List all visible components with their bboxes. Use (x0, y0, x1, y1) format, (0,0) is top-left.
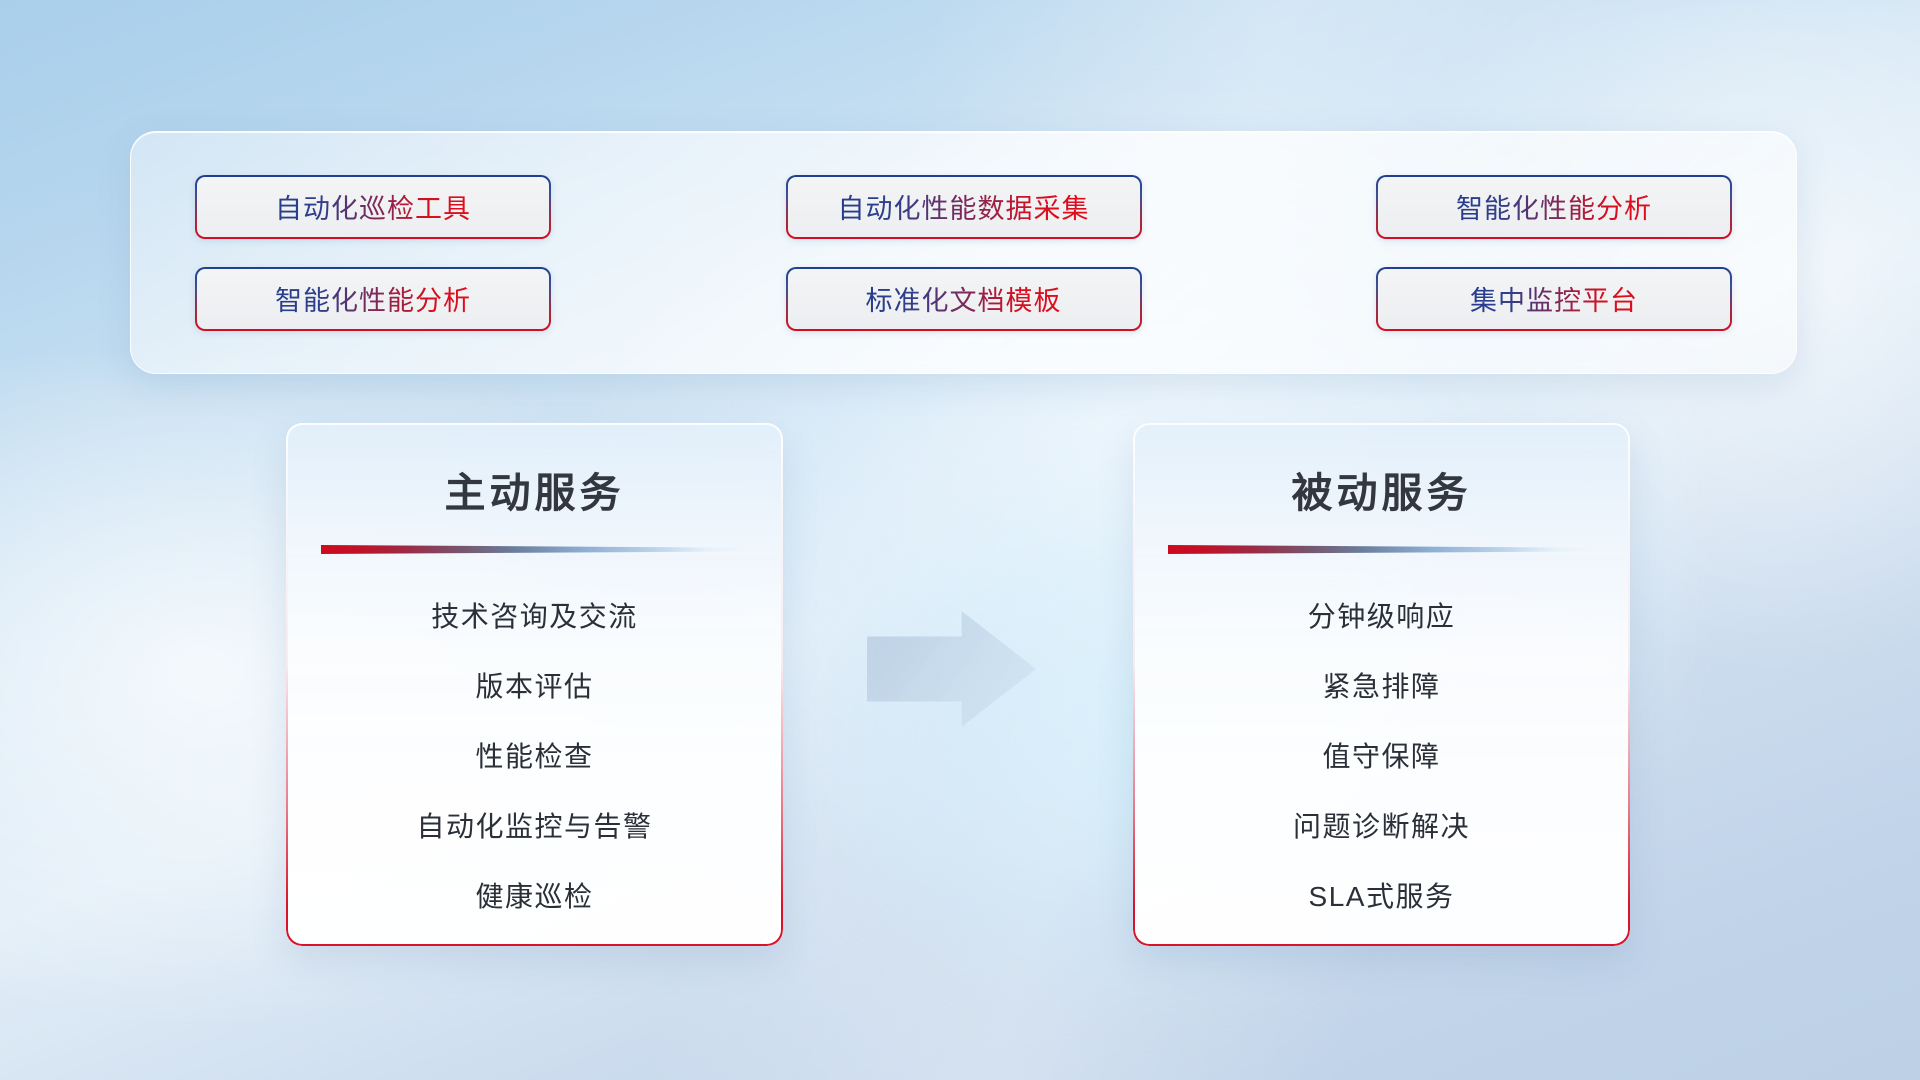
list-item[interactable]: 版本评估 (475, 652, 593, 722)
card-divider (1168, 545, 1596, 554)
list-item[interactable]: SLA式服务 (1309, 862, 1455, 932)
card-item-list: 技术咨询及交流 版本评估 性能检查 自动化监控与告警 健康巡检 (286, 582, 783, 932)
capability-pill-centralized-monitoring-platform[interactable]: 集中监控平台 (1376, 267, 1732, 331)
capability-pill-label: 自动化巡检工具 (275, 187, 471, 226)
capability-row-1: 自动化巡检工具 自动化性能数据采集 智能化性能分析 (195, 175, 1732, 239)
divider-gradient-bar (321, 545, 749, 554)
capability-row-2: 智能化性能分析 标准化文档模板 集中监控平台 (195, 267, 1732, 331)
capability-pill-intelligent-perf-analysis[interactable]: 智能化性能分析 (1376, 175, 1732, 239)
list-item[interactable]: 技术咨询及交流 (431, 582, 638, 652)
list-item[interactable]: 分钟级响应 (1308, 582, 1456, 652)
pill-surface: 自动化巡检工具 (197, 177, 549, 237)
capability-pill-label: 自动化性能数据采集 (838, 187, 1090, 226)
list-item[interactable]: 紧急排障 (1322, 652, 1440, 722)
list-item[interactable]: 问题诊断解决 (1293, 792, 1470, 862)
card-title: 被动服务 (1133, 459, 1630, 519)
capability-pill-label: 标准化文档模板 (866, 279, 1062, 318)
list-item[interactable]: 健康巡检 (475, 862, 593, 932)
card-divider (321, 545, 749, 554)
capability-pill-standard-doc-template[interactable]: 标准化文档模板 (786, 267, 1142, 331)
pill-surface: 智能化性能分析 (197, 269, 549, 329)
divider-gradient-bar (1168, 545, 1596, 554)
list-item[interactable]: 值守保障 (1322, 722, 1440, 792)
pill-surface: 集中监控平台 (1378, 269, 1730, 329)
pill-surface: 自动化性能数据采集 (788, 177, 1140, 237)
capability-pill-label: 智能化性能分析 (275, 279, 471, 318)
card-item-list: 分钟级响应 紧急排障 值守保障 问题诊断解决 SLA式服务 (1133, 582, 1630, 932)
capability-pill-label: 集中监控平台 (1470, 279, 1638, 318)
capability-panel: 自动化巡检工具 自动化性能数据采集 智能化性能分析 智能化性能分析 标准化文档模… (130, 131, 1797, 374)
capability-pill-auto-perf-data-collection[interactable]: 自动化性能数据采集 (786, 175, 1142, 239)
pill-surface: 标准化文档模板 (788, 269, 1140, 329)
pill-surface: 智能化性能分析 (1378, 177, 1730, 237)
list-item[interactable]: 自动化监控与告警 (416, 792, 652, 862)
card-title: 主动服务 (286, 459, 783, 519)
capability-pill-label: 智能化性能分析 (1456, 187, 1652, 226)
service-card-reactive: 被动服务 分钟级响应 紧急排障 值守保障 问题诊断解决 SLA式服务 (1133, 423, 1630, 946)
service-card-proactive: 主动服务 技术咨询及交流 版本评估 性能检查 自动化监控与告警 健康巡检 (286, 423, 783, 946)
capability-pill-auto-inspection-tool[interactable]: 自动化巡检工具 (195, 175, 551, 239)
list-item[interactable]: 性能检查 (475, 722, 593, 792)
capability-pill-intelligent-perf-analysis-2[interactable]: 智能化性能分析 (195, 267, 551, 331)
